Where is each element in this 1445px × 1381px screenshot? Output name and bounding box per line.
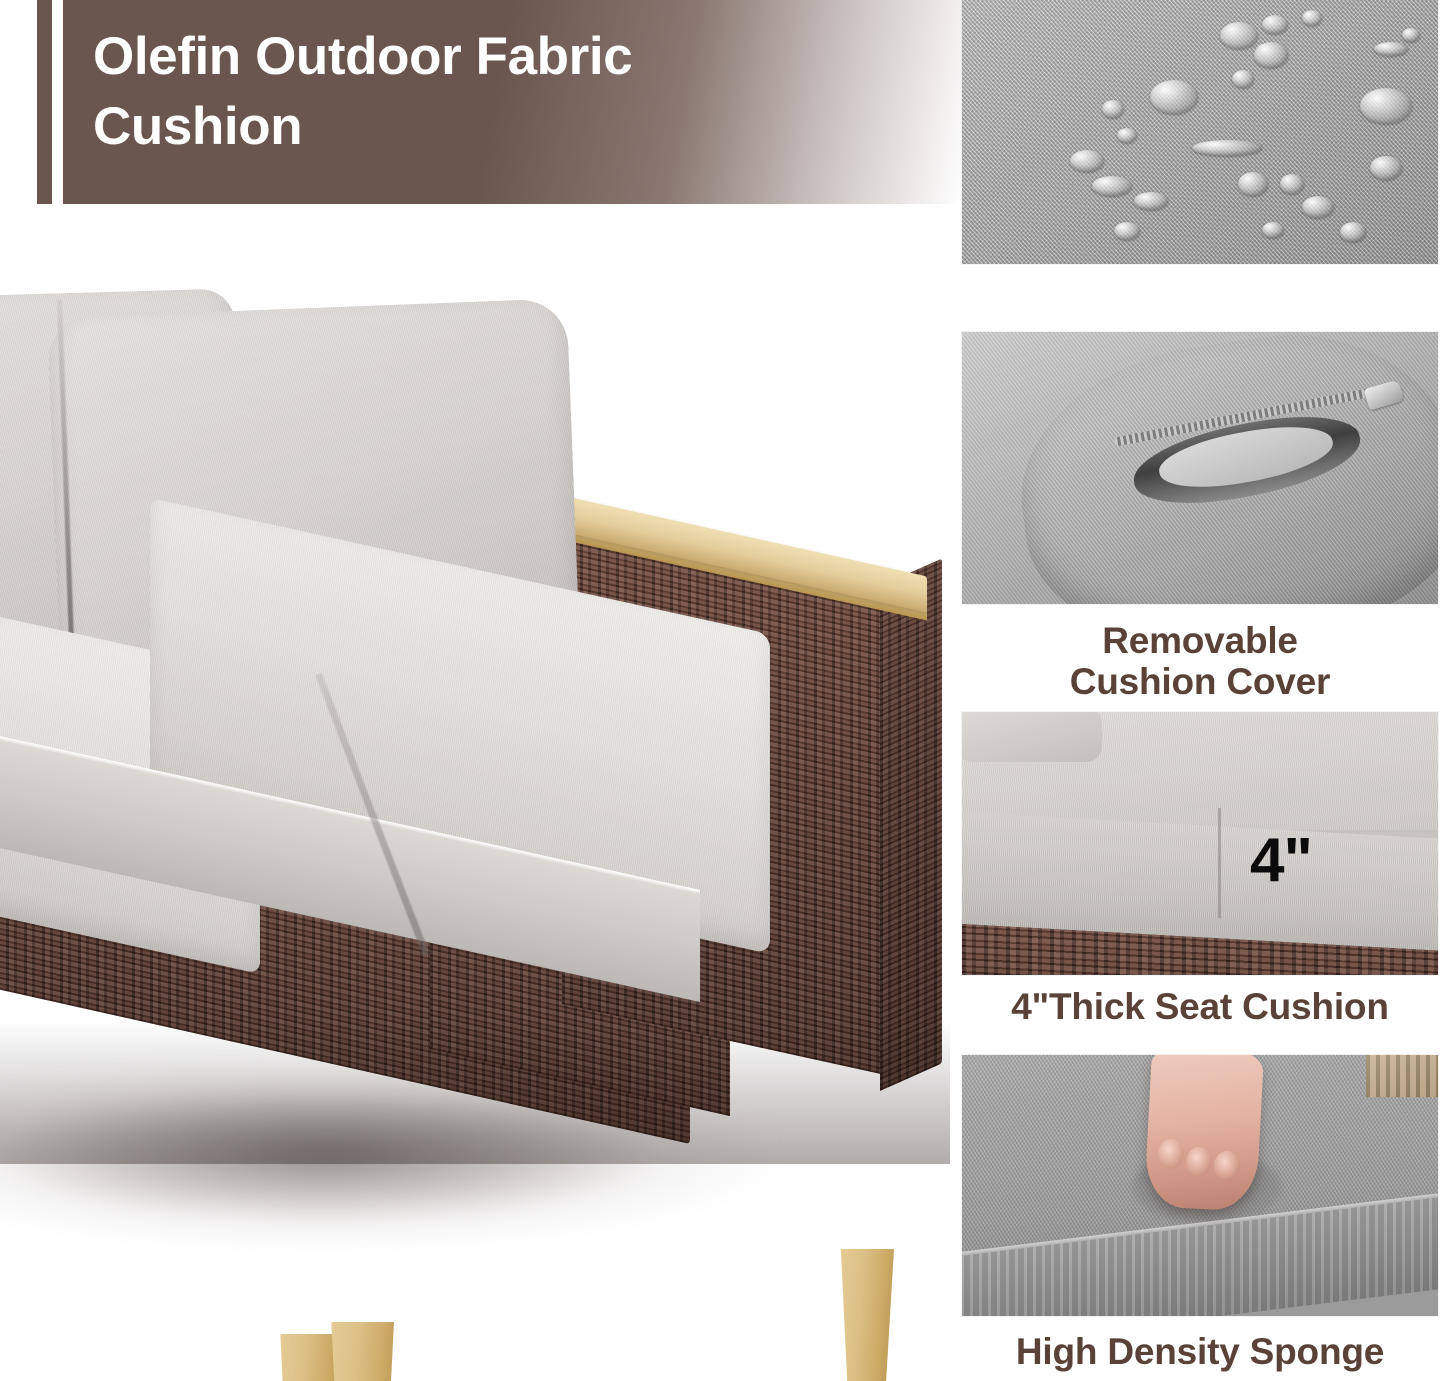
banner-accent-bar (37, 0, 52, 204)
sofa-illustration (0, 204, 962, 1381)
high-density-sponge-photo (962, 1055, 1438, 1316)
wicker-corner-detail (1366, 1055, 1438, 1097)
water-droplet (1374, 42, 1408, 56)
water-droplet (1238, 172, 1268, 196)
water-droplet (1117, 128, 1137, 143)
water-droplet (1220, 22, 1258, 49)
feature-tile-high-density-sponge: High Density Sponge (962, 1055, 1438, 1381)
feature-caption-thick-cushion: 4"Thick Seat Cushion (962, 986, 1438, 1027)
hand-pressing-icon (1144, 1055, 1264, 1212)
feature-tile-removable-cover: Removable Cushion Cover (962, 332, 1438, 710)
hero-product-photo (0, 204, 962, 1381)
thick-cushion-photo: 4" (962, 712, 1438, 975)
water-droplet (1092, 176, 1132, 196)
removable-cover-photo (962, 332, 1438, 604)
cushion-seam-line (1218, 808, 1221, 918)
water-droplet (1262, 222, 1284, 238)
water-droplet (1192, 140, 1262, 156)
water-droplet (1340, 222, 1366, 242)
feature-tile-thick-cushion: 4" 4"Thick Seat Cushion (962, 712, 1438, 1042)
back-pillow-corner (962, 712, 1102, 762)
feature-column: Water Resistant Removable Cushion Cover (962, 0, 1445, 1381)
page-title: Olefin Outdoor Fabric Cushion (93, 22, 853, 163)
water-droplet (1280, 174, 1304, 194)
water-droplet (1114, 222, 1140, 240)
sofa-leg-front-right (330, 1322, 394, 1381)
header-banner: Olefin Outdoor Fabric Cushion (0, 0, 962, 204)
thickness-measurement-label: 4" (1250, 830, 1312, 892)
water-droplet (1302, 10, 1322, 26)
water-resistant-photo: Water Resistant (962, 0, 1438, 264)
water-droplet (1150, 80, 1198, 114)
sofa-leg-side (838, 1249, 894, 1381)
water-droplet (1102, 100, 1124, 118)
feature-caption-removable-cover: Removable Cushion Cover (962, 620, 1438, 703)
fabric-texture (962, 0, 1438, 264)
product-infographic: Olefin Outdoor Fabric Cushion (0, 0, 1445, 1381)
water-droplet (1402, 28, 1420, 42)
water-droplet (1134, 192, 1168, 210)
water-droplet (1360, 88, 1412, 124)
water-droplet (1254, 42, 1288, 68)
water-droplet (1232, 70, 1254, 88)
water-droplet (1302, 196, 1334, 218)
water-droplet (1262, 15, 1288, 34)
water-droplet (1370, 156, 1402, 180)
knuckle-highlight (1158, 1139, 1184, 1169)
knuckle-highlight (1214, 1151, 1240, 1181)
wicker-armrest-front (880, 558, 942, 1091)
water-droplet (1070, 150, 1104, 172)
sofa-leg-front-left (278, 1334, 338, 1381)
knuckle-highlight (1186, 1147, 1212, 1177)
feature-tile-water-resistant: Water Resistant (962, 0, 1438, 320)
feature-caption-high-density-sponge: High Density Sponge (962, 1331, 1438, 1372)
